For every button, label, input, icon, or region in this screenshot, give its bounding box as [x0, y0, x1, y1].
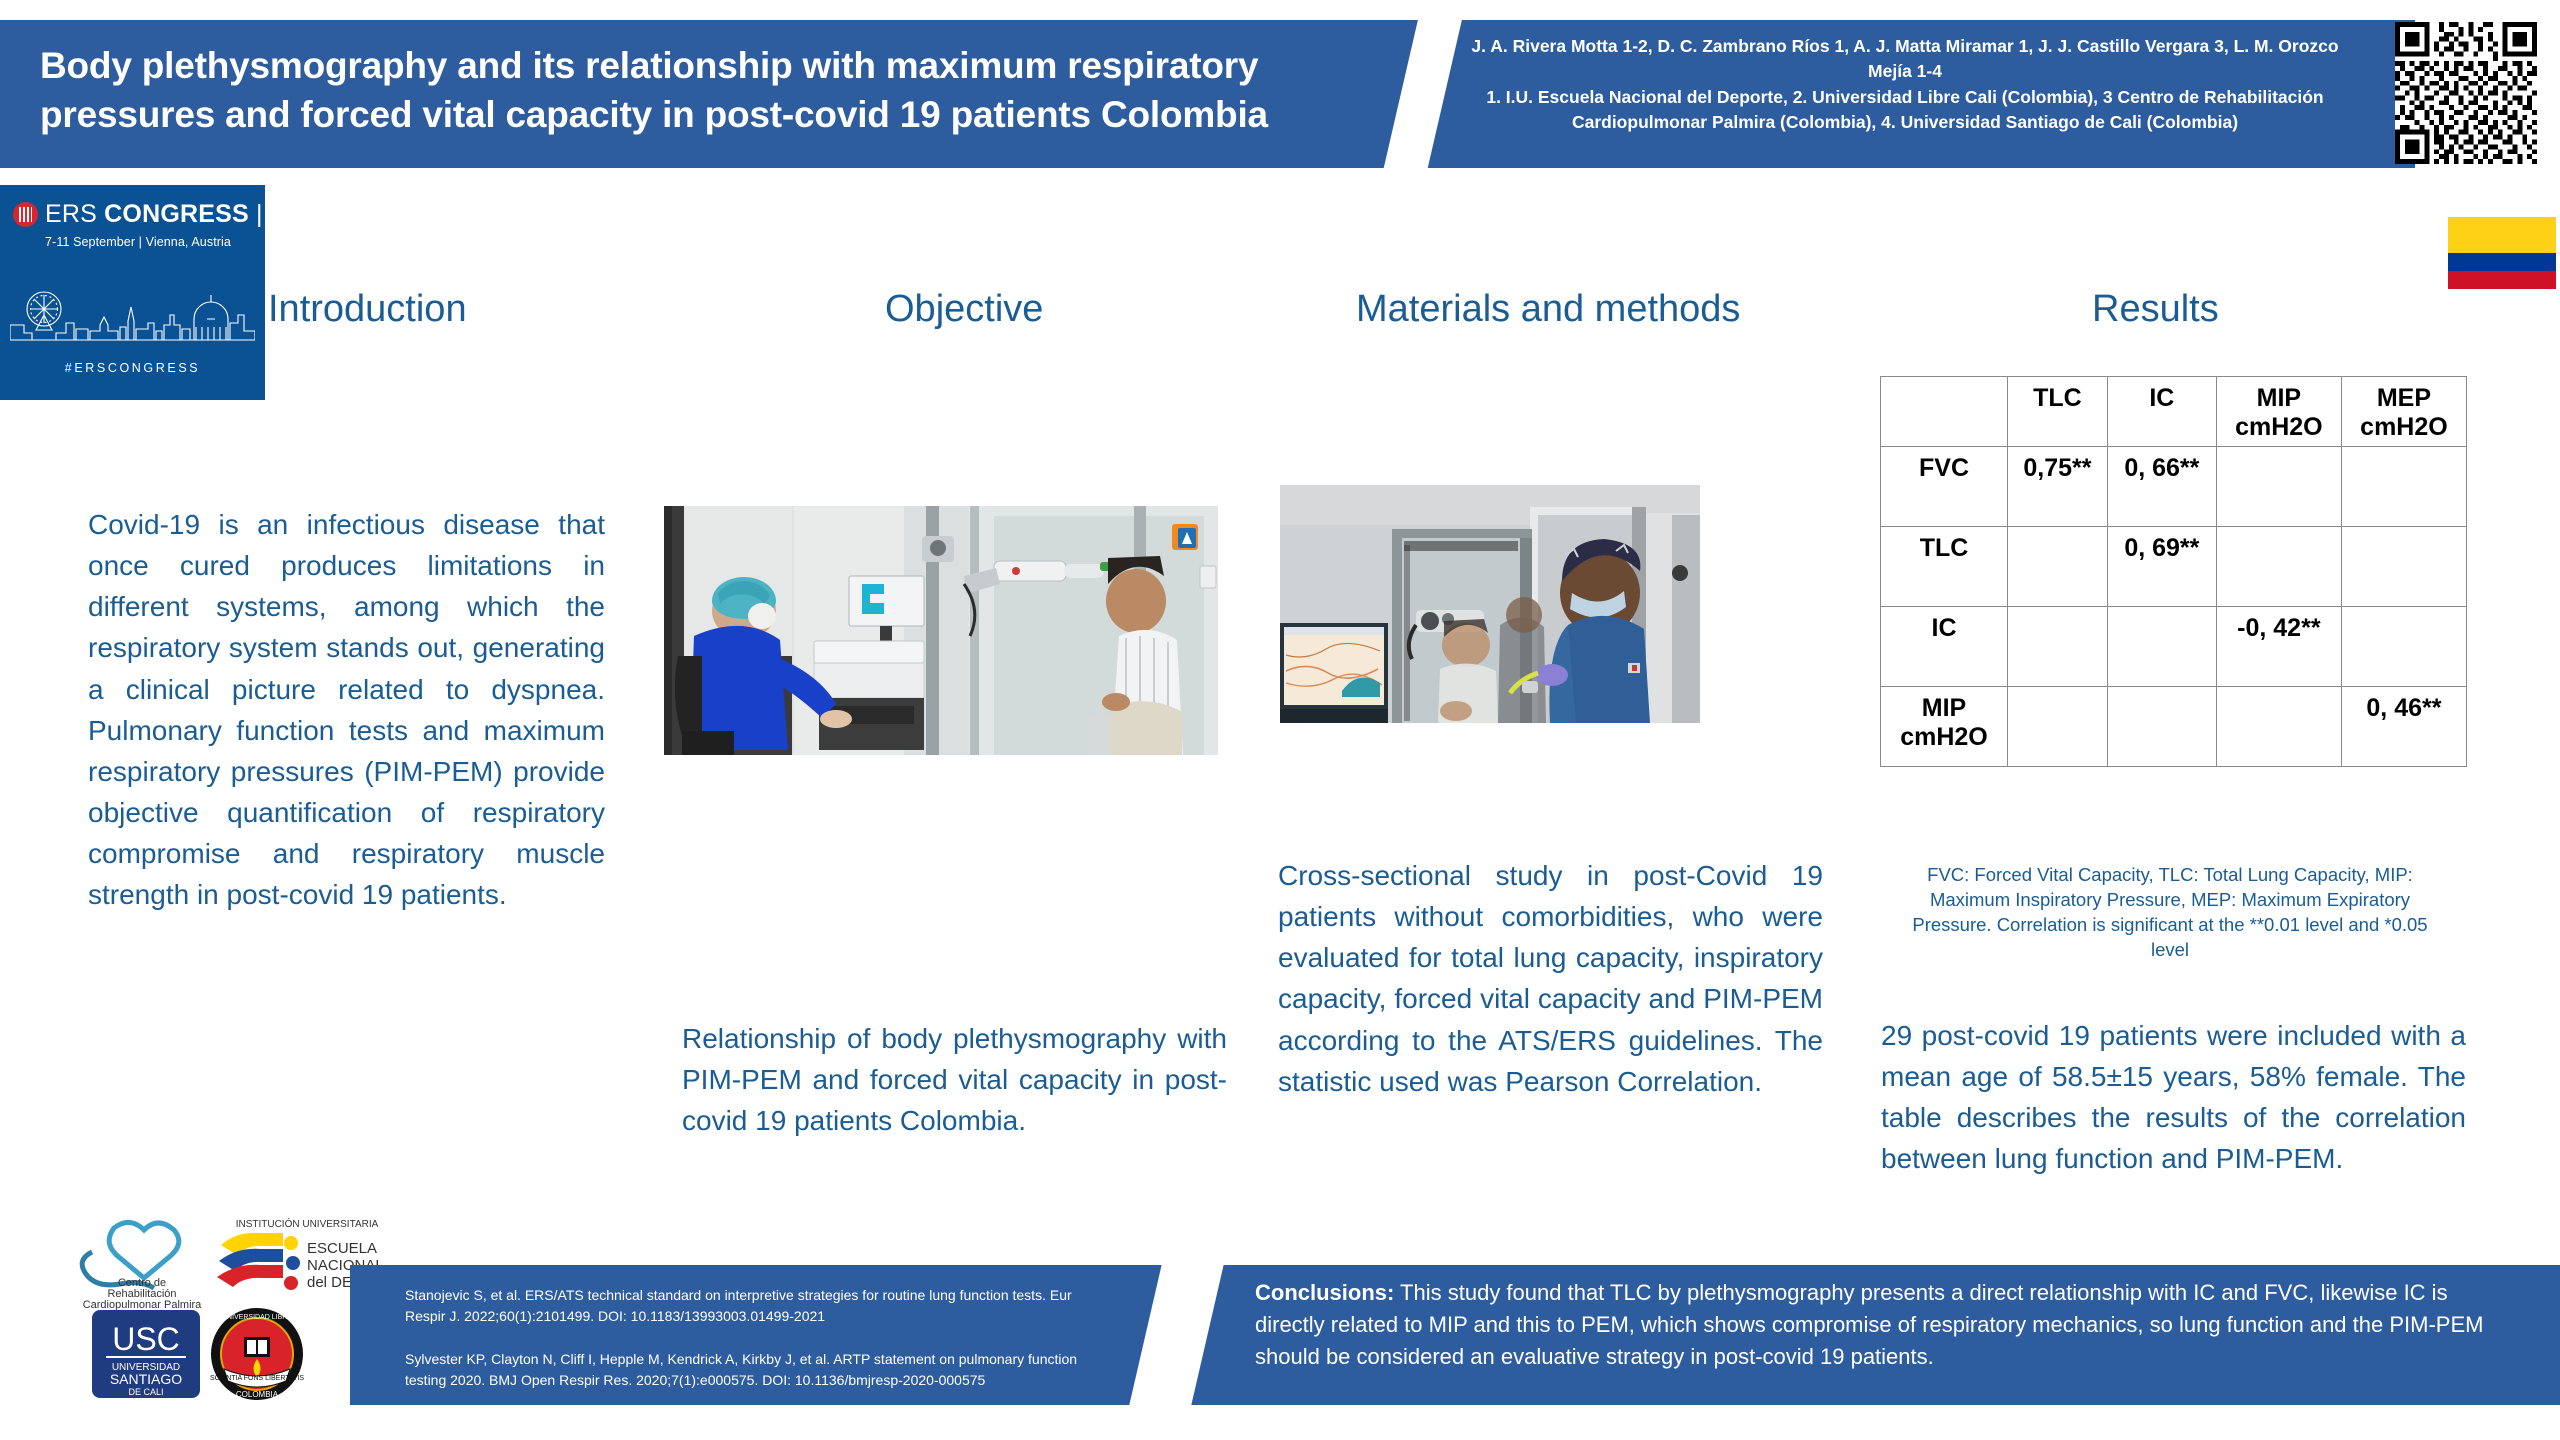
- table-header-row: TLC IC MIP cmH2O MEP cmH2O: [1881, 377, 2467, 447]
- poster-header: Body plethysmography and its relationshi…: [0, 20, 2415, 168]
- cell-ic-tlc: [2008, 607, 2108, 687]
- materials-text: Cross-sectional study in post-Covid 19 p…: [1278, 855, 1823, 1102]
- row-header-tlc: TLC: [1881, 527, 2008, 607]
- pulmonary-function-lab-photo: [1280, 485, 1700, 723]
- row-header-mip-label: MIP: [1922, 694, 1966, 722]
- conclusions-block: Conclusions: This study found that TLC b…: [1255, 1277, 2520, 1373]
- column-header-tlc-label: TLC: [2033, 384, 2082, 412]
- references-block: Stanojevic S, et al. ERS/ATS technical s…: [405, 1285, 1105, 1391]
- table-row: FVC 0,75** 0, 66**: [1881, 447, 2467, 527]
- universidad-libre-colombia-logo: SCIENTIA FONS LIBERTATIS UNIVERSIDAD LIB…: [210, 1307, 305, 1402]
- section-heading-materials: Materials and methods: [1356, 288, 1740, 331]
- column-header-ic-label: IC: [2149, 384, 2174, 412]
- author-names: J. A. Rivera Motta 1-2, D. C. Zambrano R…: [1455, 34, 2355, 84]
- ers-logo-name: ERS CONGRESS | 2024: [45, 200, 326, 229]
- cell-fvc-mip: [2216, 447, 2341, 527]
- flag-stripe-blue: [2448, 253, 2556, 271]
- row-header-mip-unit: cmH2O: [1900, 723, 1988, 751]
- results-correlation-table: TLC IC MIP cmH2O MEP cmH2O FVC 0,75** 0,…: [1880, 376, 2467, 767]
- table-corner-cell: [1881, 377, 2008, 447]
- cell-tlc-tlc: [2008, 527, 2108, 607]
- usc-line4: DE CALI: [128, 1387, 163, 1397]
- cell-mip-mip: [2216, 687, 2341, 767]
- introduction-text: Covid-19 is an infectious disease that o…: [88, 504, 605, 916]
- conclusions-text: This study found that TLC by plethysmogr…: [1255, 1280, 2483, 1369]
- cell-tlc-mip: [2216, 527, 2341, 607]
- cell-mip-tlc: [2008, 687, 2108, 767]
- end-line1: ESCUELA: [307, 1240, 377, 1257]
- section-heading-results: Results: [2092, 288, 2219, 331]
- footer-slash-divider: [1126, 1265, 1227, 1405]
- header-slash-divider: [1380, 20, 1464, 168]
- centro-rehabilitacion-cardiopulmonar-palmira-logo: Centro de Rehabilitación Cardiopulmonar …: [70, 1220, 215, 1312]
- cell-ic-mep: [2341, 607, 2466, 687]
- ulc-motto: SCIENTIA FONS LIBERTATIS: [210, 1375, 304, 1382]
- cell-tlc-mep: [2341, 527, 2466, 607]
- column-header-mep-label: MEP: [2377, 384, 2431, 412]
- universidad-santiago-de-cali-logo: USC UNIVERSIDAD SANTIAGO DE CALI: [92, 1310, 200, 1398]
- ers-lung-icon: [13, 202, 38, 227]
- conclusions-label: Conclusions:: [1255, 1280, 1394, 1305]
- poster-footer: Stanojevic S, et al. ERS/ATS technical s…: [350, 1265, 2560, 1405]
- column-header-tlc: TLC: [2008, 377, 2108, 447]
- row-header-ic: IC: [1881, 607, 2008, 687]
- end-institution-line: INSTITUCIÓN UNIVERSITARIA: [236, 1217, 379, 1230]
- cell-fvc-tlc: 0,75**: [2008, 447, 2108, 527]
- column-header-mep-unit: cmH2O: [2360, 413, 2448, 441]
- body-plethysmography-photo: [664, 506, 1218, 755]
- cell-mip-mep: 0, 46**: [2341, 687, 2466, 767]
- ers-logo-top: ERS CONGRESS | 2024: [0, 185, 265, 229]
- page-title: Body plethysmography and its relationshi…: [40, 42, 1385, 140]
- table-row: MIP cmH2O 0, 46**: [1881, 687, 2467, 767]
- ers-congress-logo: ERS CONGRESS | 2024 7-11 September | Vie…: [0, 185, 265, 400]
- flag-stripe-yellow: [2448, 217, 2556, 253]
- flag-stripe-red: [2448, 271, 2556, 289]
- table-row: IC -0, 42**: [1881, 607, 2467, 687]
- row-header-mip: MIP cmH2O: [1881, 687, 2008, 767]
- cell-ic-mip: -0, 42**: [2216, 607, 2341, 687]
- reference-item: Stanojevic S, et al. ERS/ATS technical s…: [405, 1285, 1105, 1327]
- ulc-line1: UNIVERSIDAD LIBRE: [222, 1314, 292, 1321]
- row-header-fvc: FVC: [1881, 447, 2008, 527]
- ers-congress-dates: 7-11 September | Vienna, Austria: [0, 229, 265, 249]
- ulc-line2: COLOMBIA: [236, 1390, 279, 1399]
- usc-line3: SANTIAGO: [110, 1371, 182, 1387]
- ers-hashtag: #ERSCONGRESS: [0, 361, 265, 375]
- cell-mip-ic: [2107, 687, 2216, 767]
- author-list: J. A. Rivera Motta 1-2, D. C. Zambrano R…: [1455, 34, 2355, 134]
- column-header-mip-unit: cmH2O: [2235, 413, 2323, 441]
- column-header-mep: MEP cmH2O: [2341, 377, 2466, 447]
- section-heading-introduction: Introduction: [268, 288, 467, 331]
- objective-text: Relationship of body plethysmography wit…: [682, 1018, 1227, 1141]
- table-footnote: FVC: Forced Vital Capacity, TLC: Total L…: [1892, 862, 2448, 963]
- section-heading-objective: Objective: [885, 288, 1043, 331]
- cell-fvc-ic: 0, 66**: [2107, 447, 2216, 527]
- cell-ic-ic: [2107, 607, 2216, 687]
- cell-tlc-ic: 0, 69**: [2107, 527, 2216, 607]
- column-header-mip: MIP cmH2O: [2216, 377, 2341, 447]
- reference-item: Sylvester KP, Clayton N, Cliff I, Hepple…: [405, 1349, 1105, 1391]
- qr-code-icon[interactable]: [2395, 22, 2537, 164]
- cell-fvc-mep: [2341, 447, 2466, 527]
- column-header-mip-label: MIP: [2257, 384, 2301, 412]
- vienna-skyline-icon: [10, 285, 255, 347]
- table-row: TLC 0, 69**: [1881, 527, 2467, 607]
- colombia-flag-icon: [2448, 217, 2556, 289]
- usc-line1: USC: [112, 1321, 180, 1357]
- results-text: 29 post-covid 19 patients were included …: [1881, 1015, 2466, 1180]
- column-header-ic: IC: [2107, 377, 2216, 447]
- author-affiliations: 1. I.U. Escuela Nacional del Deporte, 2.…: [1455, 85, 2355, 135]
